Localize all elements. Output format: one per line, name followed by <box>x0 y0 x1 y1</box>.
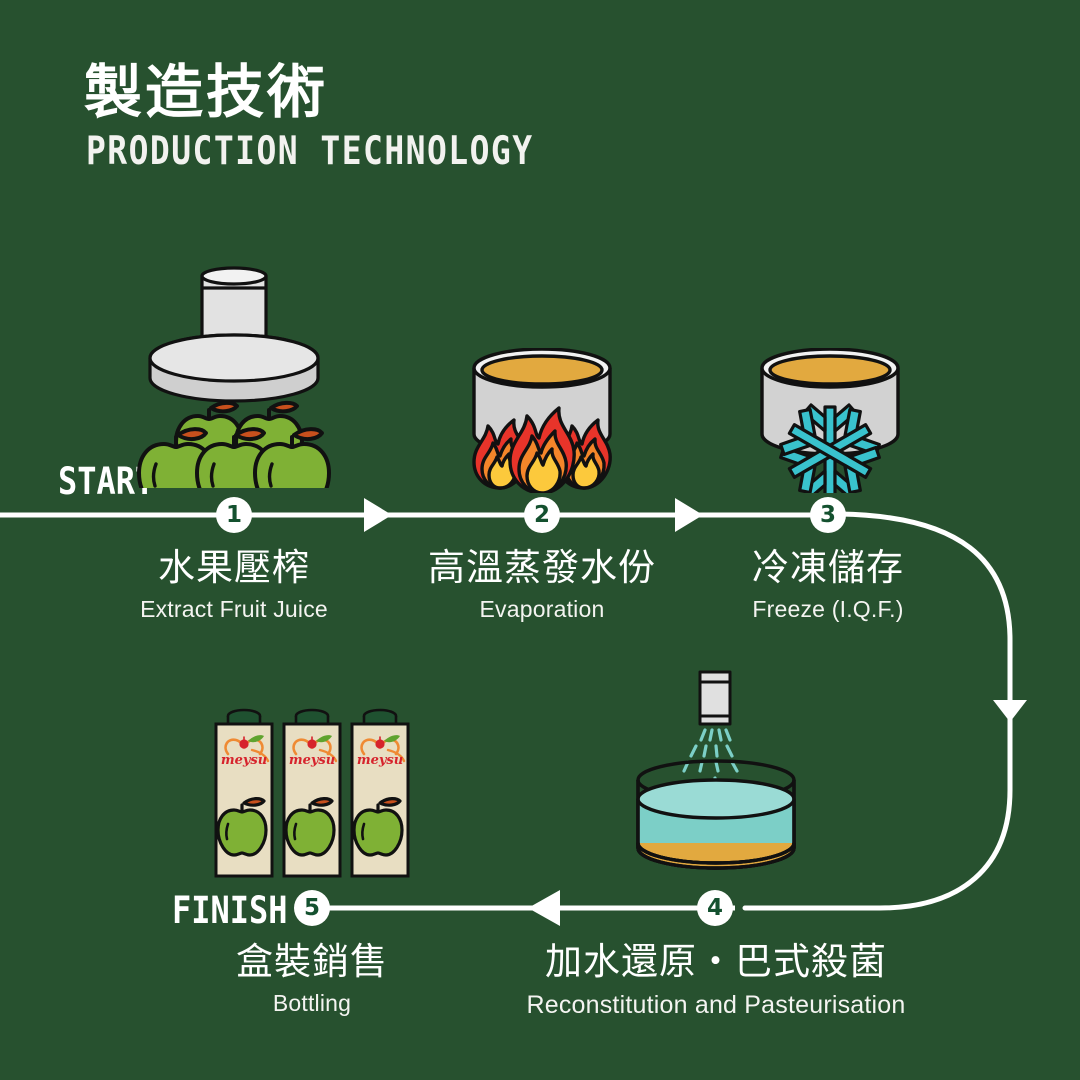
step-title-cn-5: 盒裝銷售 <box>236 940 388 984</box>
spray-droplets-icon <box>684 730 737 782</box>
arrowhead-left <box>528 890 560 926</box>
juice-cartons-icon: meysu <box>212 698 412 888</box>
arrowhead-down <box>993 700 1027 722</box>
step-title-cn-3: 冷凍儲存 <box>752 546 904 590</box>
step-title-en-4: Reconstitution and Pasteurisation <box>526 989 905 1022</box>
page-header: 製造技術 PRODUCTION TECHNOLOGY <box>84 62 784 168</box>
step-caption-2: 高溫蒸發水份 Evaporation <box>428 546 656 625</box>
frozen-pot-icon <box>740 348 920 493</box>
step-marker-4[interactable]: 4 <box>697 890 733 926</box>
spray-nozzle-icon <box>700 672 730 724</box>
carton-1 <box>216 710 272 876</box>
step-title-cn-4: 加水還原・巴式殺菌 <box>526 940 905 984</box>
step-title-en-1: Extract Fruit Juice <box>140 595 328 625</box>
step-caption-3: 冷凍儲存 Freeze (I.Q.F.) <box>752 546 904 625</box>
page-title-en: PRODUCTION TECHNOLOGY <box>86 131 763 174</box>
step-caption-4: 加水還原・巴式殺菌 Reconstitution and Pasteurisat… <box>526 940 905 1021</box>
heated-pot-icon <box>452 348 632 493</box>
step-marker-1[interactable]: 1 <box>216 497 252 533</box>
page-title-cn: 製造技術 <box>84 62 784 123</box>
infographic-canvas: 製造技術 PRODUCTION TECHNOLOGY START FINISH … <box>0 0 1080 1080</box>
finish-label: FINISH <box>172 889 287 933</box>
step-marker-3[interactable]: 3 <box>810 497 846 533</box>
arrowhead-right-1 <box>364 498 392 532</box>
step-title-en-5: Bottling <box>236 989 388 1019</box>
step-title-cn-1: 水果壓榨 <box>140 546 328 590</box>
step-title-cn-2: 高溫蒸發水份 <box>428 546 656 590</box>
step-marker-5[interactable]: 5 <box>294 890 330 926</box>
step-title-en-3: Freeze (I.Q.F.) <box>752 595 904 625</box>
water-spray-tank-icon <box>626 668 806 883</box>
carton-2 <box>284 710 340 876</box>
step-caption-1: 水果壓榨 Extract Fruit Juice <box>140 546 328 625</box>
step-marker-2[interactable]: 2 <box>524 497 560 533</box>
step-title-en-2: Evaporation <box>428 595 656 625</box>
carton-3 <box>352 710 408 876</box>
fruit-press-icon <box>134 258 334 488</box>
step-caption-5: 盒裝銷售 Bottling <box>236 940 388 1019</box>
arrowhead-right-2 <box>675 498 703 532</box>
